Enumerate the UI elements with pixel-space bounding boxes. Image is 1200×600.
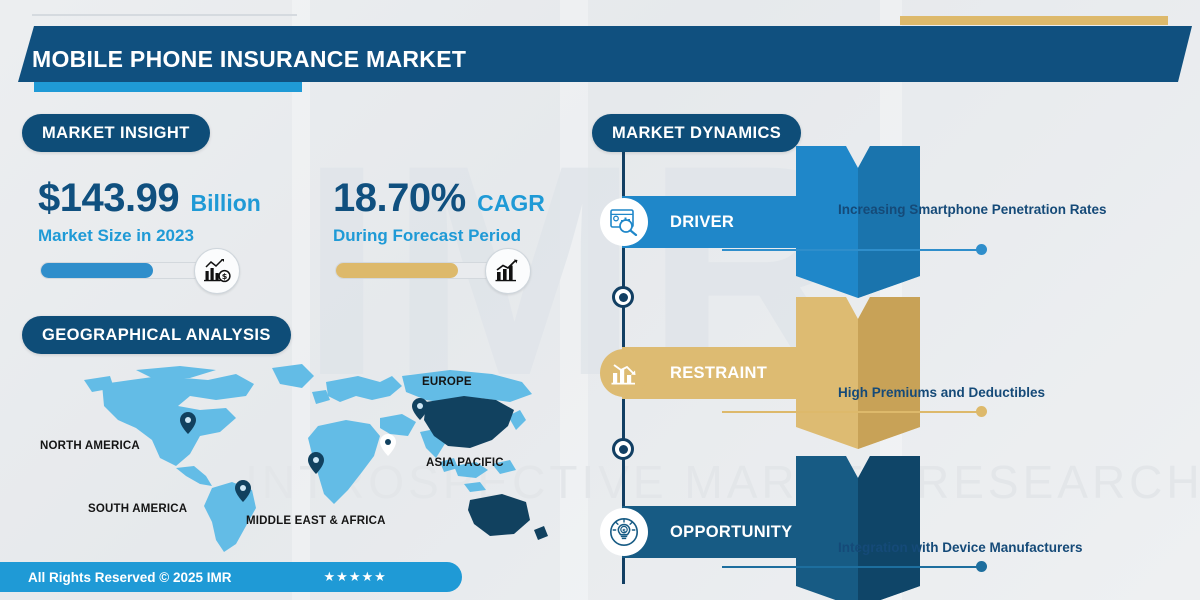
opportunity-leader-dot — [976, 561, 987, 572]
opportunity-leader-line — [722, 566, 982, 568]
svg-text:$: $ — [622, 528, 626, 534]
restraint-leader-dot — [976, 406, 987, 417]
market-insight-badge: MARKET INSIGHT — [22, 114, 210, 152]
opportunity-description: Integration with Device Manufacturers — [838, 538, 1128, 559]
market-size-caption: Market Size in 2023 — [38, 226, 261, 246]
declining-bar-chart-icon — [600, 349, 648, 397]
restraint-description: High Premiums and Deductibles — [838, 383, 1128, 404]
opportunity-bar: OPPORTUNITY — [622, 506, 820, 558]
timeline-node-1 — [612, 286, 634, 308]
copyright-text: All Rights Reserved © 2025 IMR — [28, 570, 232, 585]
kpi-market-size: $143.99 Billion Market Size in 2023 — [38, 176, 261, 246]
bar-chart-dollar-icon: $ — [194, 248, 240, 294]
report-search-icon — [600, 198, 648, 246]
cagr-value: 18.70% — [333, 176, 466, 221]
top-hairline — [32, 14, 297, 16]
footer-bar: All Rights Reserved © 2025 IMR ★★★★★ — [0, 562, 462, 592]
region-label-middle-east-africa: MIDDLE EAST & AFRICA — [246, 515, 386, 527]
gold-accent-bar — [900, 16, 1168, 25]
market-dynamics-badge: MARKET DYNAMICS — [592, 114, 801, 152]
world-map: NORTH AMERICA SOUTH AMERICA EUROPE ASIA … — [40, 362, 560, 557]
cagr-progress-track — [335, 262, 505, 279]
restraint-label: RESTRAINT — [670, 364, 767, 383]
map-pin-middle-east-africa — [308, 452, 324, 479]
region-label-europe: EUROPE — [422, 376, 472, 388]
region-label-south-america: SOUTH AMERICA — [88, 503, 187, 515]
svg-text:$: $ — [222, 272, 228, 281]
cagr-caption: During Forecast Period — [333, 226, 545, 246]
map-pin-europe — [412, 398, 428, 425]
lightbulb-dollar-icon: $ — [600, 508, 648, 556]
driver-leader-dot — [976, 244, 987, 255]
kpi-cagr: 18.70% CAGR During Forecast Period — [333, 176, 545, 246]
cagr-progress-fill — [336, 263, 458, 278]
market-size-progress-fill — [41, 263, 153, 278]
driver-description: Increasing Smartphone Penetration Rates — [838, 200, 1128, 221]
page-title: MOBILE PHONE INSURANCE MARKET — [32, 46, 466, 73]
restraint-bar: RESTRAINT — [622, 347, 820, 399]
opportunity-label: OPPORTUNITY — [670, 523, 792, 542]
region-label-asia-pacific: ASIA PACIFIC — [426, 457, 504, 469]
market-size-value: $143.99 — [38, 176, 179, 221]
rating-stars: ★★★★★ — [324, 569, 387, 585]
restraint-leader-line — [722, 411, 982, 413]
map-pin-asia-pacific — [380, 434, 396, 461]
cagr-unit: CAGR — [477, 190, 545, 217]
driver-leader-line — [722, 249, 982, 251]
map-pin-north-america — [180, 412, 196, 439]
driver-bar: DRIVER — [622, 196, 820, 248]
header-underbar — [34, 82, 302, 92]
geographical-analysis-badge: GEOGRAPHICAL ANALYSIS — [22, 316, 291, 354]
timeline-node-2 — [612, 438, 634, 460]
region-label-north-america: NORTH AMERICA — [40, 440, 140, 452]
growth-chart-icon — [485, 248, 531, 294]
market-size-progress-track — [40, 262, 210, 279]
map-pin-south-america — [235, 480, 251, 507]
market-size-unit: Billion — [191, 190, 261, 217]
driver-label: DRIVER — [670, 213, 734, 232]
